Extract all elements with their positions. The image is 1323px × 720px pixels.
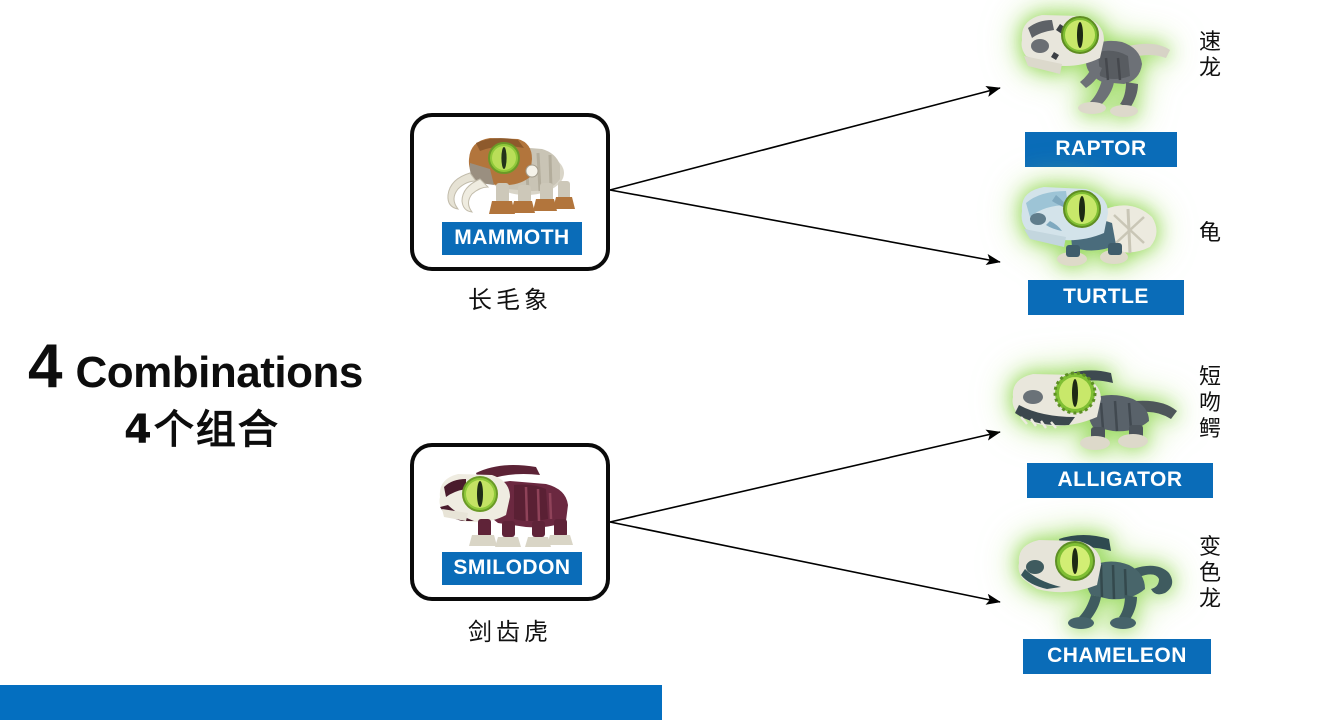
result-item-alligator[interactable]: ALLIGATOR 短吻鳄 <box>1005 355 1215 505</box>
source-card-smilodon[interactable]: SMILODON <box>410 443 610 601</box>
title-line-chinese: 4个组合 <box>28 410 428 450</box>
result-item-raptor-label: RAPTOR <box>1025 132 1177 167</box>
result-item-turtle-label: TURTLE <box>1028 280 1184 315</box>
source-card-mammoth-chinese: 长毛象 <box>410 280 610 315</box>
source-card-mammoth-label: MAMMOTH <box>442 222 582 255</box>
result-item-turtle[interactable]: TURTLE 龟 <box>1010 175 1210 325</box>
source-card-smilodon-label: SMILODON <box>442 552 582 585</box>
result-item-chameleon[interactable]: CHAMELEON 变色龙 <box>1005 523 1215 683</box>
title-word: Combinations <box>75 351 362 395</box>
slide-canvas: 4 Combinations 4个组合 <box>0 0 1323 720</box>
result-item-turtle-chinese: 龟 <box>1195 221 1225 247</box>
result-item-alligator-label: ALLIGATOR <box>1027 463 1213 498</box>
arrow-mammoth-to-raptor <box>610 88 1000 190</box>
result-item-chameleon-label: CHAMELEON <box>1023 639 1211 674</box>
chameleon-figure <box>1005 523 1215 640</box>
result-item-raptor-chinese: 速龙 <box>1195 30 1225 82</box>
result-item-raptor[interactable]: RAPTOR 速龙 <box>1010 2 1210 177</box>
arrow-smilodon-to-alligator <box>610 432 1000 522</box>
title-number: 4 <box>28 336 61 398</box>
mammoth-figure <box>414 121 606 217</box>
source-card-mammoth[interactable]: MAMMOTH <box>410 113 610 271</box>
bottom-bar <box>0 685 662 720</box>
alligator-figure <box>1005 355 1215 465</box>
result-item-chameleon-chinese: 变色龙 <box>1195 535 1225 613</box>
raptor-figure <box>1010 2 1210 127</box>
arrow-mammoth-to-turtle <box>610 190 1000 262</box>
result-item-alligator-chinese: 短吻鳄 <box>1195 365 1225 443</box>
arrow-smilodon-to-chameleon <box>610 522 1000 602</box>
page-title: 4 Combinations 4个组合 <box>28 336 428 450</box>
turtle-figure <box>1010 175 1210 285</box>
title-line-english: 4 Combinations <box>28 336 428 398</box>
source-card-smilodon-chinese: 剑齿虎 <box>410 612 610 647</box>
smilodon-figure <box>414 451 606 547</box>
